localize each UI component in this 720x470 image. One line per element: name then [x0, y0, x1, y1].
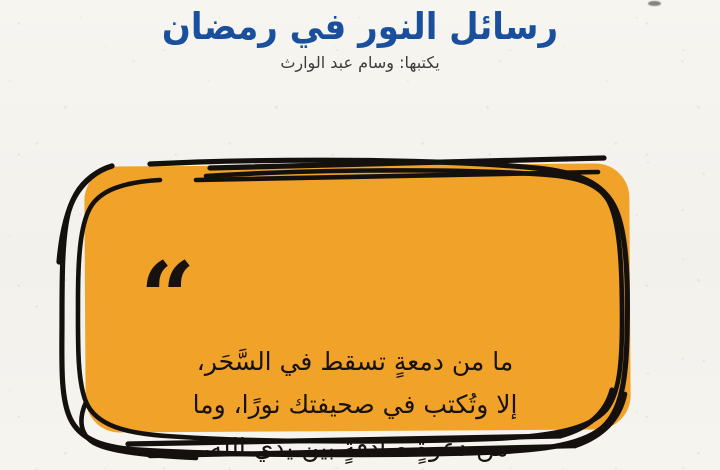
- quotation-mark-icon: “: [140, 250, 197, 346]
- page-title: رسائل النور في رمضان: [0, 0, 720, 48]
- quote-line: من دعوةٍ صادقةٍ بين يدي الله،: [125, 426, 585, 469]
- quote-line: ما من دمعةٍ تسقط في السَّحَر،: [125, 340, 585, 383]
- quote-card: “ ما من دمعةٍ تسقط في السَّحَر، إلا وتُك…: [0, 128, 720, 470]
- quote-body: ما من دمعةٍ تسقط في السَّحَر، إلا وتُكتب…: [125, 340, 585, 470]
- poster-canvas: رسائل النور في رمضان يكتبها: وسام عبد ال…: [0, 0, 720, 470]
- quote-line: إلا وتُكتب في صحيفتك نورًا، وما: [125, 383, 585, 426]
- poster-header: رسائل النور في رمضان يكتبها: وسام عبد ال…: [0, 0, 720, 72]
